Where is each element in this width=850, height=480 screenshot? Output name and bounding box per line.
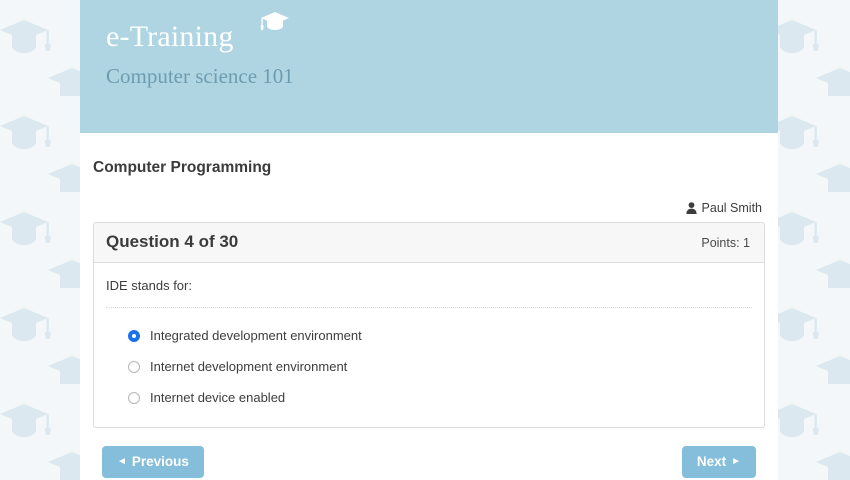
page-title: Computer Programming — [93, 159, 765, 177]
radio-button-3[interactable] — [128, 392, 140, 404]
answer-option-1[interactable]: Integrated development environment — [106, 320, 752, 351]
question-text: IDE stands for: — [94, 263, 764, 307]
question-panel: Question 4 of 30 Points: 1 IDE stands fo… — [93, 222, 765, 428]
brand-title: e-Training — [106, 22, 234, 52]
radio-button-1[interactable] — [128, 330, 140, 342]
brand-subtitle: Computer science 101 — [106, 66, 294, 87]
site-header: e-Training Computer science 101 — [80, 0, 778, 133]
previous-button-label: Previous — [132, 455, 189, 469]
question-panel-header: Question 4 of 30 Points: 1 — [94, 223, 764, 263]
radio-button-2[interactable] — [128, 361, 140, 373]
user-icon — [686, 202, 697, 214]
answer-option-2[interactable]: Internet development environment — [106, 351, 752, 382]
navigation-row: ◄ Previous Next ► — [93, 446, 765, 478]
answer-option-2-label: Internet development environment — [150, 359, 347, 374]
brand-block: e-Training Computer science 101 — [106, 22, 294, 87]
next-button-wrap: Next ► — [682, 446, 765, 478]
answer-options: Integrated development environment Inter… — [94, 308, 764, 427]
next-button-label: Next — [697, 455, 726, 469]
question-points: Points: 1 — [701, 236, 750, 250]
caret-right-icon: ► — [731, 457, 741, 467]
user-info: Paul Smith — [93, 201, 765, 215]
answer-option-3[interactable]: Internet device enabled — [106, 382, 752, 413]
answer-option-3-label: Internet device enabled — [150, 390, 285, 405]
answer-option-1-label: Integrated development environment — [150, 328, 362, 343]
graduation-cap-icon — [260, 10, 290, 32]
content-body: Computer Programming Paul Smith Question… — [80, 159, 778, 478]
caret-left-icon: ◄ — [117, 457, 127, 467]
next-button[interactable]: Next ► — [682, 446, 756, 478]
previous-button[interactable]: ◄ Previous — [102, 446, 204, 478]
question-number: Question 4 of 30 — [106, 232, 238, 252]
user-name: Paul Smith — [702, 201, 762, 215]
content-card: e-Training Computer science 101 Computer… — [80, 0, 778, 480]
